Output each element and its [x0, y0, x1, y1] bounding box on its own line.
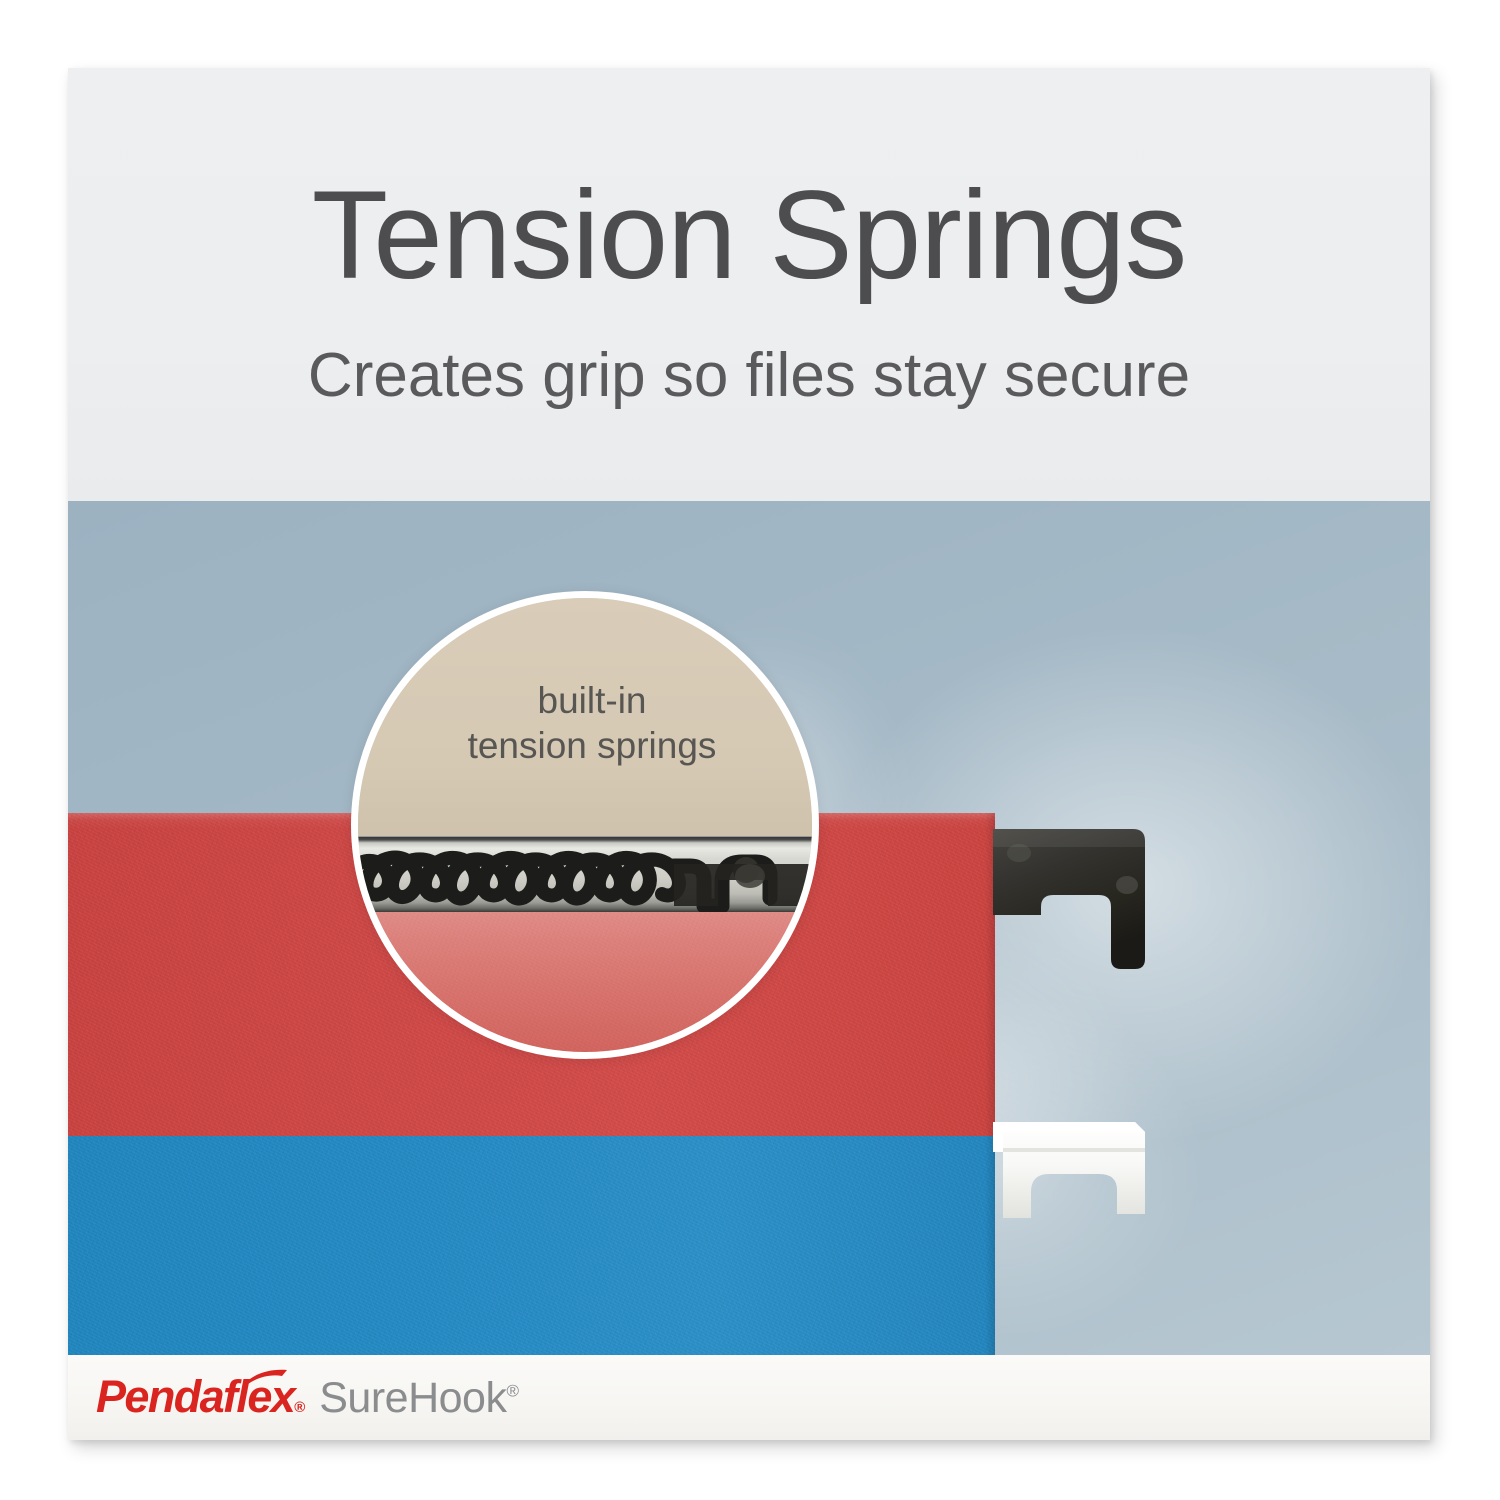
card-footer: Pendaflex® SureHook®	[68, 1355, 1430, 1440]
surehook-wordmark: SureHook	[319, 1374, 506, 1422]
magnifier-callout: built-in tension springs	[351, 591, 819, 1059]
surehook-product-name: SureHook®	[319, 1377, 518, 1420]
white-hook-icon	[993, 1118, 1168, 1226]
magnified-folder-surface	[358, 912, 812, 1052]
brand-lockup: Pendaflex® SureHook®	[96, 1374, 519, 1420]
paper-texture	[358, 912, 812, 1052]
product-feature-card: Tension Springs Creates grip so files st…	[68, 68, 1430, 1440]
page-title: Tension Springs	[68, 173, 1430, 298]
tension-spring-icon	[351, 836, 819, 912]
paper-texture	[68, 1136, 995, 1355]
callout-label: built-in tension springs	[358, 678, 819, 768]
surehook-registered-mark: ®	[506, 1382, 518, 1401]
pendaflex-registered-mark: ®	[294, 1399, 305, 1416]
card-header: Tension Springs Creates grip so files st…	[68, 68, 1430, 501]
pendaflex-logo: Pendaflex®	[96, 1374, 305, 1419]
product-photo: built-in tension springs	[68, 501, 1430, 1355]
pendaflex-swoosh-icon	[244, 1369, 288, 1385]
callout-line-1: built-in	[358, 678, 819, 723]
black-surehook-icon	[993, 823, 1151, 978]
screenshot-root: Tension Springs Creates grip so files st…	[0, 0, 1500, 1500]
callout-line-2: tension springs	[358, 723, 819, 768]
page-subtitle: Creates grip so files stay secure	[68, 345, 1430, 407]
blue-hanging-folder	[68, 1136, 995, 1355]
